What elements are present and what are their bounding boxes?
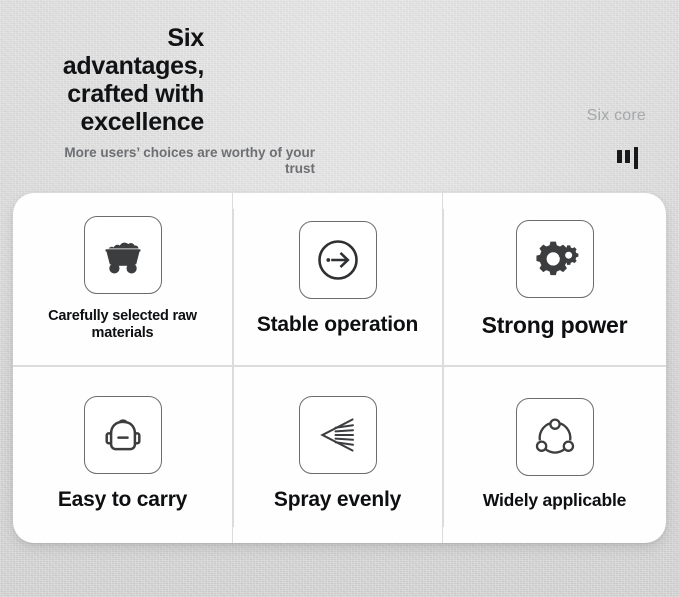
header: Six advantages, crafted with excellence … [0, 0, 679, 193]
feature-item-label: Stable operation [253, 313, 422, 338]
feature-item-raw-materials[interactable]: Carefully selected raw materials [13, 193, 233, 366]
feature-item-label: Spray evenly [270, 488, 405, 513]
feature-item-label: Strong power [478, 312, 632, 339]
page-title: Six advantages, crafted with excellence [32, 24, 204, 136]
feature-item-label: Easy to carry [54, 488, 191, 513]
feature-item-label: Carefully selected raw materials [13, 308, 232, 342]
feature-item-stable-operation[interactable]: Stable operation [233, 193, 443, 366]
backpack-icon [84, 396, 162, 474]
arrow-in-circle-icon [299, 221, 377, 299]
gears-icon [516, 220, 594, 298]
feature-card: Carefully selected raw materials Stable … [13, 193, 666, 543]
feature-grid: Carefully selected raw materials Stable … [13, 193, 666, 543]
feature-item-widely-applicable[interactable]: Widely applicable [443, 366, 666, 543]
spray-fan-icon [299, 396, 377, 474]
three-bars-icon [617, 147, 643, 169]
feature-item-spray-evenly[interactable]: Spray evenly [233, 366, 443, 543]
mine-cart-icon [84, 216, 162, 294]
feature-item-easy-to-carry[interactable]: Easy to carry [13, 366, 233, 543]
eyebrow-label: Six core [587, 107, 646, 125]
share-nodes-icon [516, 398, 594, 476]
feature-item-label: Widely applicable [479, 490, 630, 510]
page-subtitle: More users’ choices are worthy of your t… [32, 145, 315, 178]
feature-item-strong-power[interactable]: Strong power [443, 193, 666, 366]
